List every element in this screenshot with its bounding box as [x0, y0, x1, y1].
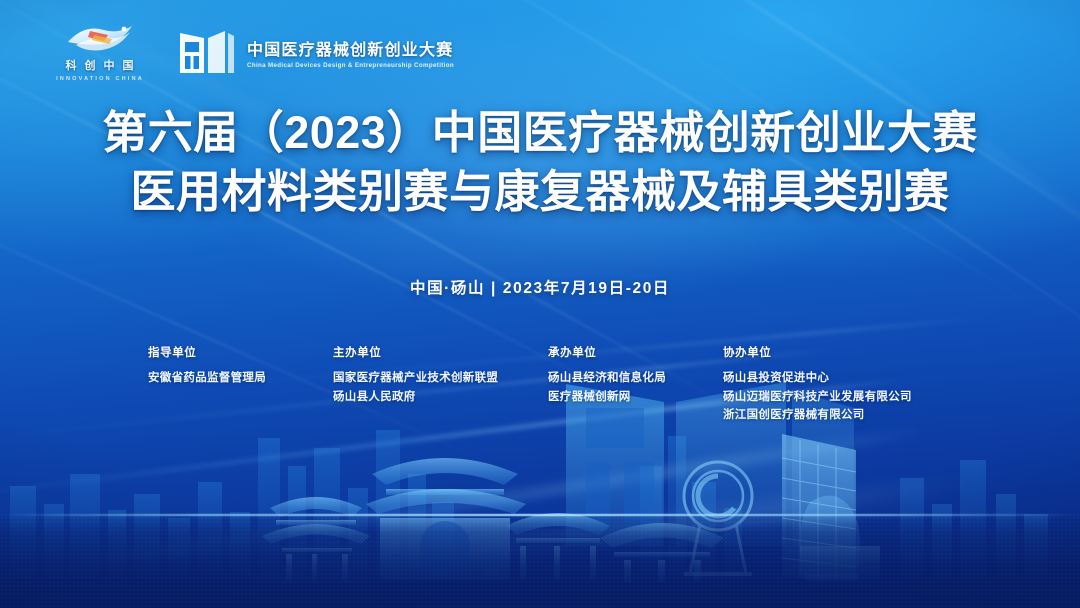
organizer-item: 砀山县经济和信息化局: [548, 369, 723, 388]
kechuang-zhongguo-logo: 科 创 中 国 INNOVATION CHINA: [48, 22, 152, 82]
circular-sculpture-monument: [684, 462, 752, 574]
page-title: 第六届（2023）中国医疗器械创新创业大赛 医用材料类别赛与康复器械及辅具类别赛: [0, 104, 1080, 221]
background-light-streaks: [0, 0, 1080, 608]
pavilion-archway: [600, 523, 724, 582]
competition-logo-cn: 中国医疗器械创新创业大赛: [247, 36, 454, 60]
organizer-column-coorganizer: 协办单位 砀山县投资促进中心 砀山迈瑞医疗科技产业发展有限公司 浙江国创医疗器械…: [723, 344, 912, 425]
organizer-item: 砀山县人民政府: [333, 388, 548, 407]
light-beam: [0, 426, 930, 590]
paifang-archway-left: [262, 497, 370, 582]
kc-char-4: 国: [123, 57, 135, 73]
water-texture: [0, 516, 1080, 608]
paifang-archway-right: [506, 513, 610, 580]
competition-logo-en: China Medical Devices Design & Entrepren…: [247, 61, 454, 69]
event-location-date: 中国·砀山 | 2023年7月19日-20日: [410, 280, 670, 297]
organizer-title: 协办单位: [723, 344, 912, 360]
competition-logo: 中国医疗器械创新创业大赛 China Medical Devices Desig…: [178, 29, 454, 75]
organizer-column-undertaker: 承办单位 砀山县经济和信息化局 医疗器械创新网: [548, 344, 723, 406]
organizer-title: 主办单位: [333, 344, 548, 360]
gate-tower-center: [366, 458, 526, 580]
organizer-item: 浙江国创医疗器械有限公司: [723, 406, 912, 425]
organizer-column-host: 主办单位 国家医疗器械产业技术创新联盟 砀山县人民政府: [333, 344, 548, 406]
vignette-overlay: [0, 0, 1080, 608]
organizer-title: 承办单位: [548, 344, 723, 360]
kc-char-2: 创: [85, 57, 97, 73]
city-buildings-backdrop: [10, 430, 1048, 578]
stone-carving-sculpture: [800, 496, 860, 582]
highrise-tower: [782, 434, 880, 580]
light-beam: [0, 511, 951, 569]
poster-canvas: 科 创 中 国 INNOVATION CHINA 中国医疗器械创新创业大赛: [0, 0, 1080, 608]
headline-line-1: 第六届（2023）中国医疗器械创新创业大赛: [24, 104, 1056, 163]
header-logos: 科 创 中 国 INNOVATION CHINA 中国医疗器械创新创业大赛: [48, 22, 454, 82]
organizer-item: 砀山县投资促进中心: [723, 369, 912, 388]
kechuang-zhongguo-en: INNOVATION CHINA: [56, 76, 144, 82]
organizer-title: 指导单位: [148, 344, 333, 360]
kc-char-1: 科: [66, 57, 78, 73]
organizer-item: 医疗器械创新网: [548, 388, 723, 407]
kc-char-3: 中: [104, 57, 116, 73]
water-horizon-line: [0, 514, 1080, 516]
headline-line-2: 医用材料类别赛与康复器械及辅具类别赛: [24, 163, 1056, 222]
watermark-door-logo-inner: [586, 408, 654, 532]
competition-logo-text: 中国医疗器械创新创业大赛 China Medical Devices Desig…: [247, 36, 454, 69]
eagle-emblem-icon: [64, 22, 136, 54]
organizer-item: 安徽省药品监督管理局: [148, 369, 333, 388]
light-beam: [73, 474, 973, 608]
organizer-item: 砀山迈瑞医疗科技产业发展有限公司: [723, 388, 912, 407]
organizer-column-guidance: 指导单位 安徽省药品监督管理局: [148, 344, 333, 388]
kechuang-zhongguo-cn: 科 创 中 国: [66, 57, 135, 73]
organizer-columns: 指导单位 安徽省药品监督管理局 主办单位 国家医疗器械产业技术创新联盟 砀山县人…: [148, 344, 912, 425]
open-door-book-icon: [178, 29, 236, 75]
water-reflection: [0, 516, 1080, 608]
event-datebar: 中国·砀山 | 2023年7月19日-20日: [0, 276, 1080, 298]
organizer-item: 国家医疗器械产业技术创新联盟: [333, 369, 548, 388]
